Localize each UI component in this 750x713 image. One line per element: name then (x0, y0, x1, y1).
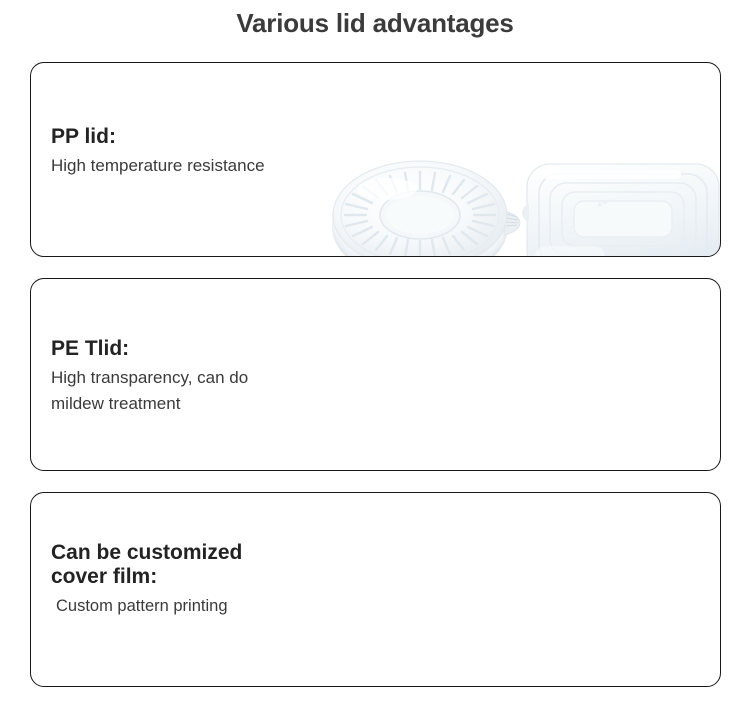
cover-film-subtitle: Custom pattern printing (51, 593, 242, 619)
pe-lid-text-block: PE Tlid: High transparency, can do milde… (51, 337, 248, 417)
cover-film-heading: Can be customized cover film: (51, 541, 242, 589)
pp-lid-subtitle: High temperature resistance (51, 153, 265, 179)
panel-pp-lid: PP lid: High temperature resistance (30, 62, 721, 257)
pe-lid-heading: PE Tlid: (51, 337, 248, 361)
page-title: Various lid advantages (0, 8, 750, 39)
pe-lid-subtitle: High transparency, can do mildew treatme… (51, 365, 248, 417)
cover-film-text-block: Can be customized cover film: Custom pat… (51, 541, 242, 619)
pp-rectangular-lid-image (519, 146, 721, 257)
pp-round-lid-image (327, 151, 532, 257)
panel-cover-film: Can be customized cover film: Custom pat… (30, 492, 721, 687)
panel-pe-lid: PE Tlid: High transparency, can do milde… (30, 278, 721, 471)
pp-lid-heading: PP lid: (51, 125, 265, 149)
pp-lid-text-block: PP lid: High temperature resistance (51, 125, 265, 179)
